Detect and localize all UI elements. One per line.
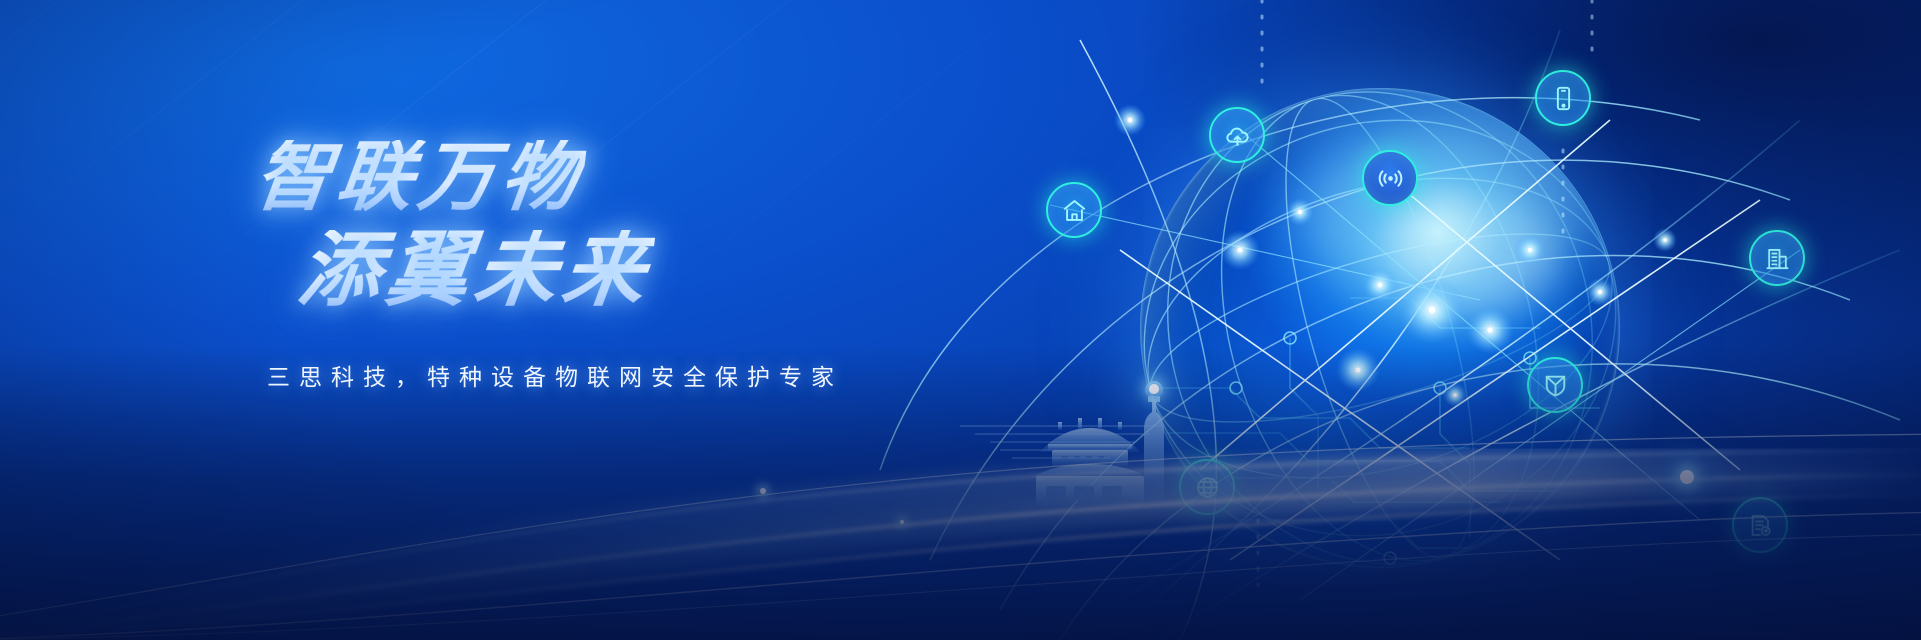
water-spark-1 <box>760 488 766 494</box>
cloud-upload-icon[interactable] <box>1209 107 1265 163</box>
wifi-signal-icon[interactable] <box>1362 150 1418 206</box>
hero-subtitle: 三思科技，特种设备物联网安全保护专家 <box>267 358 975 392</box>
water-spark-2 <box>900 520 904 524</box>
hero-banner: 智联万物 添翼未来 三思科技，特种设备物联网安全保护专家 <box>0 0 1921 640</box>
tower-beacon-glow <box>1149 384 1159 394</box>
headline-line-2: 添翼未来 <box>294 230 656 312</box>
reflective-water-surface <box>0 390 1921 640</box>
document-report-icon[interactable] <box>1732 497 1788 553</box>
shield-icon[interactable] <box>1527 357 1583 413</box>
headline-group: 智联万物 添翼未来 <box>255 140 975 312</box>
hero-copy-block: 智联万物 添翼未来 三思科技，特种设备物联网安全保护专家 <box>255 140 975 392</box>
headline-line-1: 智联万物 <box>250 140 587 216</box>
office-building-icon[interactable] <box>1749 230 1805 286</box>
city-skyline-silhouette <box>1000 378 1230 508</box>
horizon-light-flare <box>1680 470 1694 484</box>
mobile-phone-icon[interactable] <box>1535 70 1591 126</box>
home-icon[interactable] <box>1046 182 1102 238</box>
